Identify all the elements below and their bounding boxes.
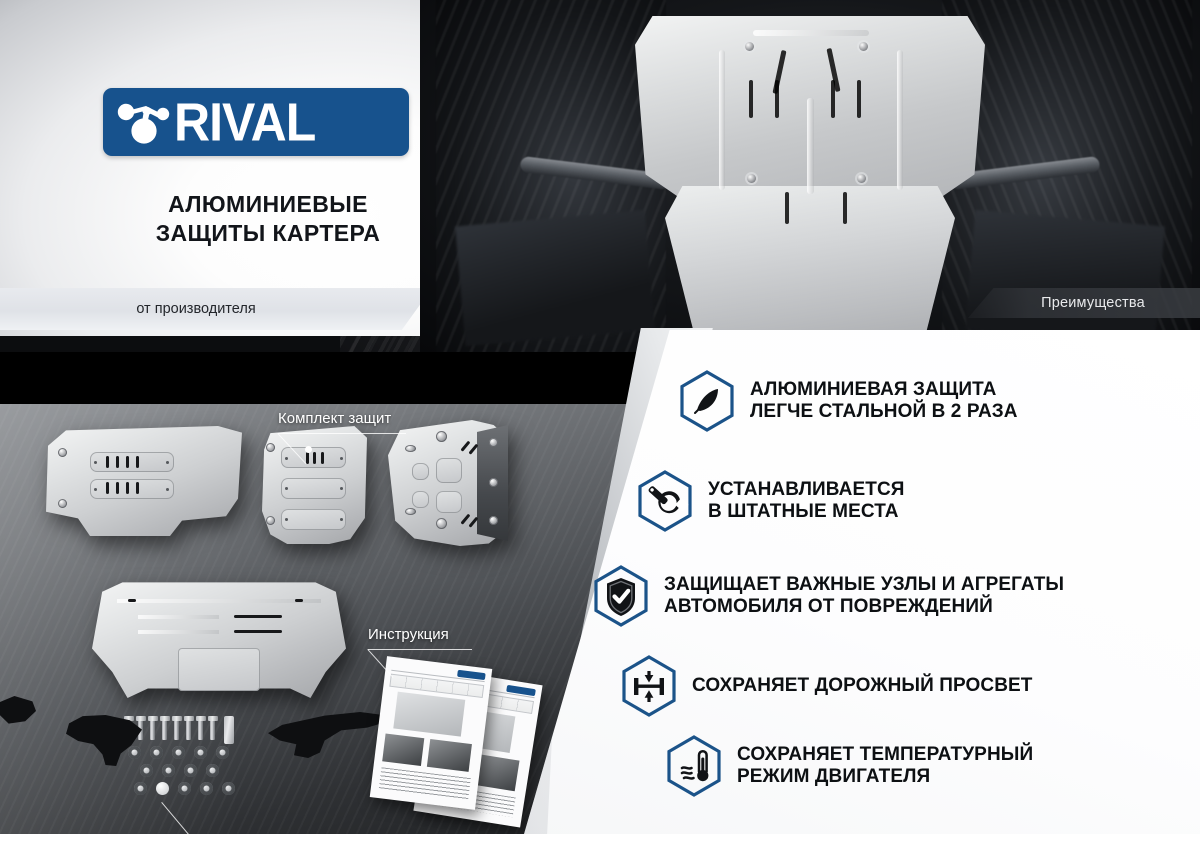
thermometer-icon — [665, 735, 723, 797]
page-title: АЛЮМИНИЕВЫЕ ЗАЩИТЫ КАРТЕРА — [103, 190, 433, 247]
installed-skid-plate — [635, 16, 985, 346]
molecule-icon — [114, 94, 176, 150]
callout-instruction: Инструкция — [368, 626, 449, 643]
logo-wordmark: RIVAL — [174, 95, 315, 149]
callout-protection-kit-label: Комплект защит — [278, 410, 391, 427]
skid-plate-lower-section — [665, 186, 955, 346]
subframe-right — [965, 210, 1165, 346]
subframe-left — [455, 210, 655, 346]
skid-plate-part-2 — [262, 426, 367, 544]
advantages-label: Преимущества — [1023, 295, 1145, 311]
shield-check-icon — [592, 565, 650, 627]
feature-item-lightweight: АЛЮМИНИЕВАЯ ЗАЩИТА ЛЕГЧЕ СТАЛЬНОЙ В 2 РА… — [678, 370, 1018, 432]
hero-photo: Преимущества — [420, 0, 1200, 352]
manufacturer-label: от производителя — [0, 301, 392, 317]
skid-plate-part-3 — [388, 420, 508, 546]
poster-root: RIVAL АЛЮМИНИЕВЫЕ ЗАЩИТЫ КАРТЕРА от прои… — [0, 0, 1200, 848]
feature-label-oem-fitment: УСТАНАВЛИВАЕТСЯ В ШТАТНЫЕ МЕСТА — [708, 479, 905, 524]
skid-plate-part-1 — [42, 426, 242, 536]
feature-label-engine-temperature: СОХРАНЯЕТ ТЕМПЕРАТУРНЫЙ РЕЖИМ ДВИГАТЕЛЯ — [737, 744, 1033, 789]
advantages-tab: Преимущества — [968, 288, 1200, 318]
manufacturer-strip: от производителя — [0, 288, 432, 330]
bottom-white-border — [0, 834, 1200, 848]
skid-plate-part-4 — [92, 580, 346, 698]
feature-label-lightweight: АЛЮМИНИЕВАЯ ЗАЩИТА ЛЕГЧЕ СТАЛЬНОЙ В 2 РА… — [750, 379, 1018, 424]
rival-logo: RIVAL — [103, 88, 409, 156]
wrench-icon — [636, 470, 694, 532]
ground-clearance-icon — [620, 655, 678, 717]
feature-label-ground-clearance: СОХРАНЯЕТ ДОРОЖНЫЙ ПРОСВЕТ — [692, 675, 1033, 697]
feature-item-oem-fitment: УСТАНАВЛИВАЕТСЯ В ШТАТНЫЕ МЕСТА — [636, 470, 905, 532]
callout-protection-kit: Комплект защит — [278, 410, 391, 427]
feature-item-ground-clearance: СОХРАНЯЕТ ДОРОЖНЫЙ ПРОСВЕТ — [620, 655, 1033, 717]
callout-instruction-label: Инструкция — [368, 626, 449, 643]
dark-divider-band — [0, 352, 660, 404]
instruction-sheet-front — [370, 656, 493, 810]
feature-item-protects-components: ЗАЩИЩАЕТ ВАЖНЫЕ УЗЛЫ И АГРЕГАТЫ АВТОМОБИ… — [592, 565, 1064, 627]
feature-item-engine-temperature: СОХРАНЯЕТ ТЕМПЕРАТУРНЫЙ РЕЖИМ ДВИГАТЕЛЯ — [665, 735, 1033, 797]
feature-label-protects-components: ЗАЩИЩАЕТ ВАЖНЫЕ УЗЛЫ И АГРЕГАТЫ АВТОМОБИ… — [664, 574, 1064, 619]
leaf-icon — [678, 370, 736, 432]
